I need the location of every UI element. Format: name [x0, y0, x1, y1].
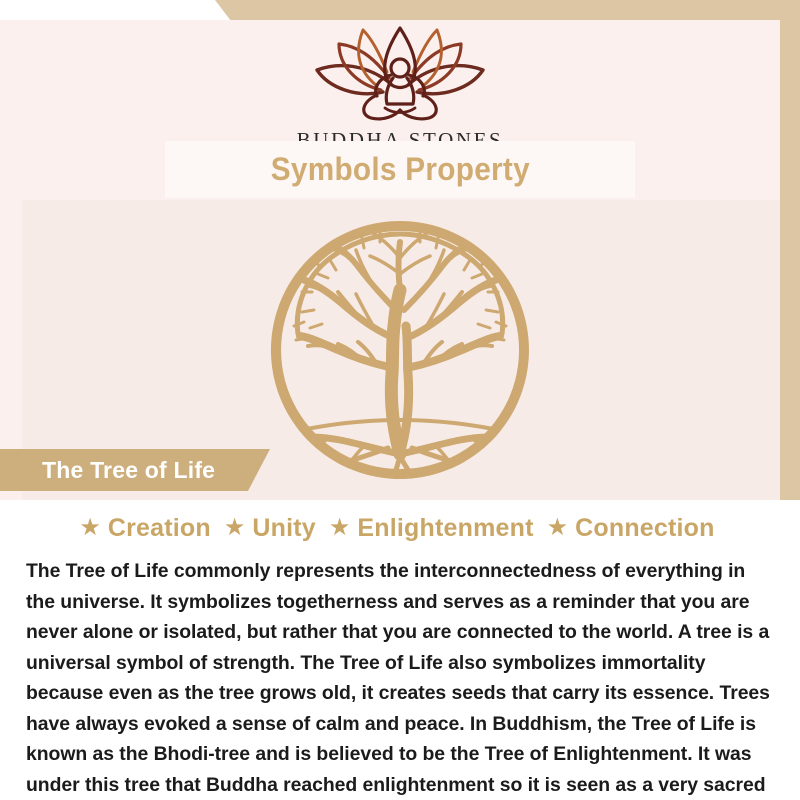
brand-logo-block: BUDDHA STONES	[0, 22, 800, 153]
keyword-label: Unity	[252, 514, 316, 543]
keyword-label: Connection	[575, 514, 715, 543]
infographic-page: BUDDHA STONES Symbols Property	[0, 0, 800, 800]
star-icon: ★	[329, 516, 351, 540]
keyword-item-connection: ★ Connection	[547, 514, 715, 543]
tree-of-life-graphic	[268, 218, 532, 482]
keyword-item-creation: ★ Creation	[79, 514, 211, 543]
keyword-label: Enlightenment	[357, 514, 533, 543]
page-title: Symbols Property	[270, 151, 529, 188]
description-paragraph: The Tree of Life commonly represents the…	[26, 556, 778, 800]
keyword-item-unity: ★ Unity	[224, 514, 316, 543]
lotus-meditation-figure-icon	[295, 22, 505, 122]
keyword-list: ★ Creation ★ Unity ★ Enlightenment ★ Con…	[0, 514, 800, 543]
star-icon: ★	[224, 516, 246, 540]
keyword-label: Creation	[108, 514, 211, 543]
section-label: The Tree of Life	[42, 457, 215, 484]
star-icon: ★	[79, 516, 101, 540]
tree-of-life-icon	[268, 218, 532, 482]
star-icon: ★	[547, 516, 569, 540]
keyword-item-enlightenment: ★ Enlightenment	[329, 514, 534, 543]
title-banner: Symbols Property	[165, 141, 635, 198]
section-label-banner: The Tree of Life	[0, 449, 270, 491]
